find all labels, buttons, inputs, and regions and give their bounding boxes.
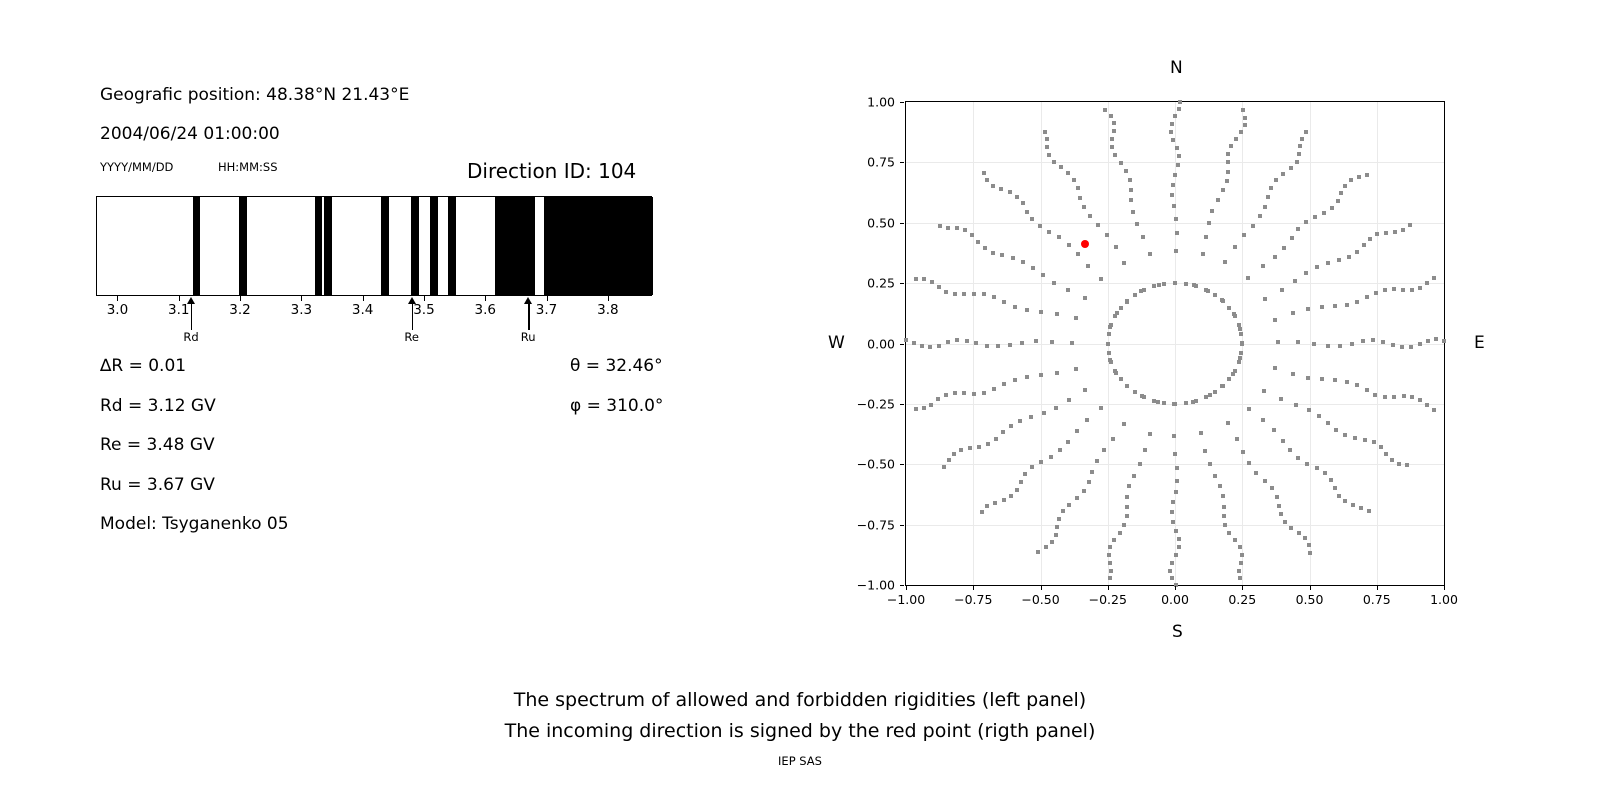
x-axis-tick-label: −0.75	[954, 592, 992, 607]
direction-marker	[1365, 173, 1369, 177]
x-axis-tick	[1041, 586, 1042, 590]
direction-marker	[1199, 431, 1203, 435]
y-axis-tick-label: −1.00	[847, 578, 895, 593]
direction-marker	[991, 251, 995, 255]
direction-marker	[1379, 445, 1383, 449]
direction-marker	[1119, 306, 1123, 310]
direction-marker	[1109, 569, 1113, 573]
direction-marker	[1162, 401, 1166, 405]
compass-south-label: S	[1172, 622, 1183, 642]
direction-marker	[1425, 281, 1429, 285]
direction-marker	[1174, 217, 1178, 221]
direction-marker	[1343, 433, 1347, 437]
direction-marker	[1128, 178, 1132, 182]
direction-marker	[1083, 296, 1087, 300]
direction-marker	[1173, 452, 1177, 456]
direction-marker	[1222, 505, 1226, 509]
direction-marker	[1365, 388, 1369, 392]
direction-marker	[1243, 123, 1247, 127]
direction-marker	[1223, 523, 1227, 527]
direction-marker	[1111, 437, 1115, 441]
direction-marker	[912, 341, 916, 345]
direction-marker	[1368, 237, 1372, 241]
direction-marker	[1072, 178, 1076, 182]
direction-marker	[1345, 380, 1349, 384]
direction-marker	[1227, 531, 1231, 535]
direction-marker	[1152, 399, 1156, 403]
direction-marker	[1176, 163, 1180, 167]
direction-marker	[1055, 525, 1059, 529]
direction-marker	[1326, 261, 1330, 265]
direction-marker	[1067, 243, 1071, 247]
direction-marker	[1088, 214, 1092, 218]
direction-marker	[1373, 393, 1377, 397]
direction-marker	[1222, 514, 1226, 518]
polar-scatter-plot	[905, 101, 1445, 586]
direction-marker	[1122, 261, 1126, 265]
direction-marker	[1008, 190, 1012, 194]
direction-marker	[1113, 153, 1117, 157]
axis-tick	[424, 296, 425, 301]
x-axis-tick	[1444, 586, 1445, 590]
direction-marker	[1113, 369, 1117, 373]
direction-marker	[1002, 300, 1006, 304]
direction-marker	[1432, 408, 1436, 412]
direction-marker	[1090, 470, 1094, 474]
direction-marker	[1392, 395, 1396, 399]
direction-marker	[1135, 222, 1139, 226]
direction-marker	[1102, 448, 1106, 452]
direction-marker	[1351, 503, 1355, 507]
y-axis-tick-label: 0.00	[847, 336, 895, 351]
direction-marker	[1330, 206, 1334, 210]
direction-marker	[1021, 201, 1025, 205]
direction-marker	[1334, 428, 1338, 432]
x-axis-tick-label: 0.75	[1363, 592, 1391, 607]
direction-marker	[1013, 378, 1017, 382]
y-axis-tick-label: 0.50	[847, 215, 895, 230]
direction-marker	[1297, 152, 1301, 156]
direction-marker	[1326, 344, 1330, 348]
direction-marker	[1125, 299, 1129, 303]
direction-marker	[1273, 255, 1277, 259]
axis-tick	[547, 296, 548, 301]
direction-marker	[1025, 210, 1029, 214]
direction-marker	[996, 344, 1000, 348]
re-value: Re = 3.48 GV	[100, 435, 215, 455]
y-axis-tick-label: −0.25	[847, 396, 895, 411]
direction-marker	[1227, 306, 1231, 310]
direction-marker	[1025, 375, 1029, 379]
direction-marker	[1175, 231, 1179, 235]
direction-marker	[1263, 297, 1267, 301]
direction-marker	[968, 446, 972, 450]
direction-marker	[1047, 153, 1051, 157]
direction-marker	[1304, 271, 1308, 275]
axis-tick	[608, 296, 609, 301]
direction-marker	[1039, 460, 1043, 464]
axis-tick-label: 3.4	[352, 302, 373, 318]
direction-marker	[1391, 343, 1395, 347]
direction-marker	[1241, 450, 1245, 454]
direction-marker	[1283, 520, 1287, 524]
direction-marker	[1109, 323, 1113, 327]
direction-marker	[1082, 489, 1086, 493]
direction-marker	[1281, 172, 1285, 176]
direction-marker	[1172, 204, 1176, 208]
direction-marker	[1059, 165, 1063, 169]
direction-marker	[922, 277, 926, 281]
direction-marker	[1355, 250, 1359, 254]
direction-marker	[1240, 553, 1244, 557]
direction-marker	[1365, 295, 1369, 299]
direction-marker	[1381, 340, 1385, 344]
direction-marker	[1297, 531, 1301, 535]
axis-tick	[240, 296, 241, 301]
direction-marker	[1400, 345, 1404, 349]
y-axis-tick	[900, 585, 904, 586]
direction-marker	[1038, 224, 1042, 228]
direction-marker	[1216, 198, 1220, 202]
direction-marker	[1266, 195, 1270, 199]
direction-marker	[1125, 384, 1129, 388]
direction-marker	[1122, 422, 1126, 426]
direction-marker	[1171, 183, 1175, 187]
direction-marker	[1174, 553, 1178, 557]
axis-tick-label: 3.3	[291, 302, 312, 318]
direction-marker	[1075, 496, 1079, 500]
direction-marker	[1401, 228, 1405, 232]
direction-marker	[1363, 438, 1367, 442]
direction-marker	[1367, 509, 1371, 513]
direction-marker	[944, 393, 948, 397]
direction-marker	[980, 510, 984, 514]
direction-marker	[1070, 341, 1074, 345]
direction-marker	[904, 338, 908, 342]
direction-marker	[1221, 299, 1225, 303]
gridline-horizontal	[906, 525, 1444, 526]
direction-marker	[1009, 494, 1013, 498]
direction-marker	[1061, 509, 1065, 513]
direction-marker	[1231, 372, 1235, 376]
direction-marker	[1170, 193, 1174, 197]
direction-marker	[1096, 223, 1100, 227]
direction-marker	[1076, 186, 1080, 190]
direction-marker	[1108, 561, 1112, 565]
y-axis-tick	[900, 525, 904, 526]
direction-marker	[1177, 107, 1181, 111]
direction-marker	[1405, 463, 1409, 467]
direction-marker	[1020, 341, 1024, 345]
forbidden-band	[448, 197, 456, 295]
direction-marker	[1023, 472, 1027, 476]
x-axis-tick	[1310, 586, 1311, 590]
direction-marker	[983, 246, 987, 250]
direction-marker	[1312, 342, 1316, 346]
direction-marker	[1095, 459, 1099, 463]
direction-marker	[1074, 316, 1078, 320]
x-axis-tick	[1108, 586, 1109, 590]
direction-marker	[970, 233, 974, 237]
direction-marker	[982, 171, 986, 175]
axis-tick	[301, 296, 302, 301]
direction-marker	[994, 437, 998, 441]
direction-marker	[1313, 215, 1317, 219]
direction-marker	[922, 406, 926, 410]
direction-marker	[1242, 233, 1246, 237]
direction-marker	[1108, 545, 1112, 549]
direction-marker	[1239, 332, 1243, 336]
direction-marker	[1225, 179, 1229, 183]
direction-marker	[1127, 484, 1131, 488]
spectrum-x-axis: 3.03.13.23.33.43.53.63.73.8	[96, 296, 652, 336]
geographic-position-text: Geografic position: 48.38°N 21.43°E	[100, 85, 409, 105]
direction-marker	[1108, 576, 1112, 580]
direction-marker	[953, 391, 957, 395]
y-axis-tick	[900, 404, 904, 405]
forbidden-band	[411, 197, 418, 295]
forbidden-band	[381, 197, 389, 295]
direction-marker	[1362, 243, 1366, 247]
direction-marker	[1036, 550, 1040, 554]
direction-marker	[1347, 255, 1351, 259]
direction-marker	[1338, 344, 1342, 348]
direction-marker	[1107, 351, 1111, 355]
direction-marker	[1343, 499, 1347, 503]
direction-marker	[1349, 178, 1353, 182]
direction-marker	[972, 392, 976, 396]
direction-marker	[1425, 403, 1429, 407]
x-axis-tick-label: −0.25	[1089, 592, 1127, 607]
direction-marker	[1277, 504, 1281, 508]
direction-marker	[1054, 533, 1058, 537]
direction-marker	[1122, 523, 1126, 527]
direction-marker	[1015, 195, 1019, 199]
direction-marker	[1125, 514, 1129, 518]
direction-marker	[1175, 479, 1179, 483]
direction-marker	[1171, 138, 1175, 142]
forbidden-band	[430, 197, 438, 295]
direction-marker	[1124, 169, 1128, 173]
direction-marker	[937, 285, 941, 289]
forbidden-band	[495, 197, 535, 295]
direction-marker	[1226, 152, 1230, 156]
direction-marker	[1306, 376, 1310, 380]
x-axis-tick-label: 0.50	[1296, 592, 1324, 607]
direction-marker	[1075, 429, 1079, 433]
direction-marker	[1226, 170, 1230, 174]
direction-marker	[1049, 455, 1053, 459]
direction-marker	[955, 226, 959, 230]
direction-map-panel: N S W E −1.00−0.75−0.50−0.250.000.250.50…	[840, 0, 1600, 660]
direction-marker	[1002, 498, 1006, 502]
direction-marker	[1233, 245, 1237, 249]
direction-marker	[1374, 291, 1378, 295]
direction-marker	[1272, 428, 1276, 432]
axis-tick-label: 3.8	[597, 302, 618, 318]
compass-east-label: E	[1474, 333, 1485, 353]
direction-marker	[1372, 440, 1376, 444]
direction-marker	[1296, 456, 1300, 460]
direction-marker	[1226, 160, 1230, 164]
direction-marker	[955, 338, 959, 342]
direction-marker	[914, 277, 918, 281]
direction-marker	[914, 407, 918, 411]
direction-marker	[1293, 279, 1297, 283]
direction-marker	[1152, 284, 1156, 288]
direction-marker	[1066, 288, 1070, 292]
marker-arrow-ru	[528, 303, 529, 330]
direction-marker	[1078, 196, 1082, 200]
direction-marker	[1409, 345, 1413, 349]
forbidden-band	[193, 197, 200, 295]
ru-value: Ru = 3.67 GV	[100, 475, 215, 495]
direction-marker	[1442, 339, 1446, 343]
direction-marker	[1384, 452, 1388, 456]
delta-r: ∆R = 0.01	[100, 356, 186, 376]
direction-marker	[1067, 503, 1071, 507]
direction-marker	[1099, 406, 1103, 410]
direction-marker	[1288, 448, 1292, 452]
y-axis-tick	[900, 283, 904, 284]
direction-marker	[1142, 288, 1146, 292]
direction-marker	[1018, 419, 1022, 423]
direction-marker	[1270, 486, 1274, 490]
direction-marker	[1052, 281, 1056, 285]
axis-tick	[363, 296, 364, 301]
direction-marker	[992, 387, 996, 391]
direction-marker	[1148, 252, 1152, 256]
direction-marker	[1203, 449, 1207, 453]
direction-marker	[1170, 576, 1174, 580]
rigidity-spectrum-chart	[96, 196, 652, 296]
direction-marker	[1054, 406, 1058, 410]
direction-marker	[953, 292, 957, 296]
direction-marker	[1174, 490, 1178, 494]
direction-marker	[1289, 166, 1293, 170]
direction-marker	[1279, 512, 1283, 516]
direction-marker	[1177, 537, 1181, 541]
forbidden-band	[315, 197, 322, 295]
direction-marker	[1034, 339, 1038, 343]
direction-marker	[1336, 199, 1340, 203]
direction-marker	[1030, 465, 1034, 469]
direction-marker	[936, 397, 940, 401]
direction-marker	[1355, 383, 1359, 387]
direction-marker	[1300, 137, 1304, 141]
direction-marker	[1067, 398, 1071, 402]
direction-marker	[1119, 161, 1123, 165]
direction-marker	[1345, 303, 1349, 307]
direction-marker	[985, 178, 989, 182]
direction-marker	[1408, 223, 1412, 227]
rd-value: Rd = 3.12 GV	[100, 396, 216, 416]
direction-marker	[1361, 339, 1365, 343]
gridline-horizontal	[906, 223, 1444, 224]
rigidity-spectrum-panel: Geografic position: 48.38°N 21.43°E 2004…	[0, 0, 760, 640]
direction-marker	[977, 445, 981, 449]
direction-marker	[1315, 265, 1319, 269]
direction-marker	[1044, 545, 1048, 549]
direction-marker	[1045, 145, 1049, 149]
marker-arrowhead-re	[408, 297, 416, 304]
direction-marker	[1350, 342, 1354, 346]
axis-tick-label: 3.2	[229, 302, 250, 318]
axis-tick-label: 3.5	[413, 302, 434, 318]
direction-marker	[1148, 432, 1152, 436]
direction-marker	[1157, 283, 1161, 287]
direction-marker	[1239, 130, 1243, 134]
direction-marker	[1410, 395, 1414, 399]
footer-credit: IEP SAS	[0, 754, 1600, 768]
direction-marker	[962, 292, 966, 296]
direction-marker	[1418, 342, 1422, 346]
date-format-hint: YYYY/MM/DD	[100, 160, 173, 174]
direction-marker	[962, 391, 966, 395]
direction-marker	[1025, 308, 1029, 312]
y-axis-tick-label: 0.75	[847, 155, 895, 170]
direction-marker	[1254, 471, 1258, 475]
direction-marker	[942, 465, 946, 469]
direction-marker	[1171, 520, 1175, 524]
direction-marker	[1333, 378, 1337, 382]
direction-marker	[1109, 360, 1113, 364]
direction-marker	[1246, 276, 1250, 280]
direction-marker	[1207, 221, 1211, 225]
direction-marker	[1204, 288, 1208, 292]
direction-marker	[1110, 137, 1114, 141]
axis-tick	[179, 296, 180, 301]
direction-marker	[937, 344, 941, 348]
direction-marker	[1233, 369, 1237, 373]
direction-marker	[1087, 480, 1091, 484]
caption-line-2: The incoming direction is signed by the …	[0, 716, 1600, 747]
direction-marker	[928, 345, 932, 349]
direction-marker	[1001, 430, 1005, 434]
direction-marker	[1019, 480, 1023, 484]
direction-marker	[1125, 495, 1129, 499]
x-axis-tick	[1242, 586, 1243, 590]
direction-marker	[1317, 414, 1321, 418]
direction-marker	[1307, 543, 1311, 547]
direction-marker	[1333, 304, 1337, 308]
direction-marker	[1295, 160, 1299, 164]
direction-marker	[1323, 471, 1327, 475]
direction-marker	[1258, 214, 1262, 218]
direction-marker	[1194, 399, 1198, 403]
forbidden-band	[544, 197, 653, 295]
direction-marker	[1307, 408, 1311, 412]
forbidden-band	[239, 197, 247, 295]
direction-marker	[972, 292, 976, 296]
direction-marker	[1175, 466, 1179, 470]
direction-marker	[1329, 478, 1333, 482]
direction-marker	[1375, 232, 1379, 236]
direction-marker	[1432, 276, 1436, 280]
direction-marker	[1042, 411, 1046, 415]
direction-id-text: Direction ID: 104	[467, 159, 636, 183]
direction-marker	[1057, 235, 1061, 239]
direction-marker	[1173, 402, 1177, 406]
direction-marker	[946, 340, 950, 344]
direction-marker	[1353, 436, 1357, 440]
axis-tick	[485, 296, 486, 301]
direction-marker	[1282, 246, 1286, 250]
direction-marker	[1057, 517, 1061, 521]
direction-marker	[1247, 407, 1251, 411]
direction-marker	[1177, 545, 1181, 549]
direction-marker	[1011, 256, 1015, 260]
